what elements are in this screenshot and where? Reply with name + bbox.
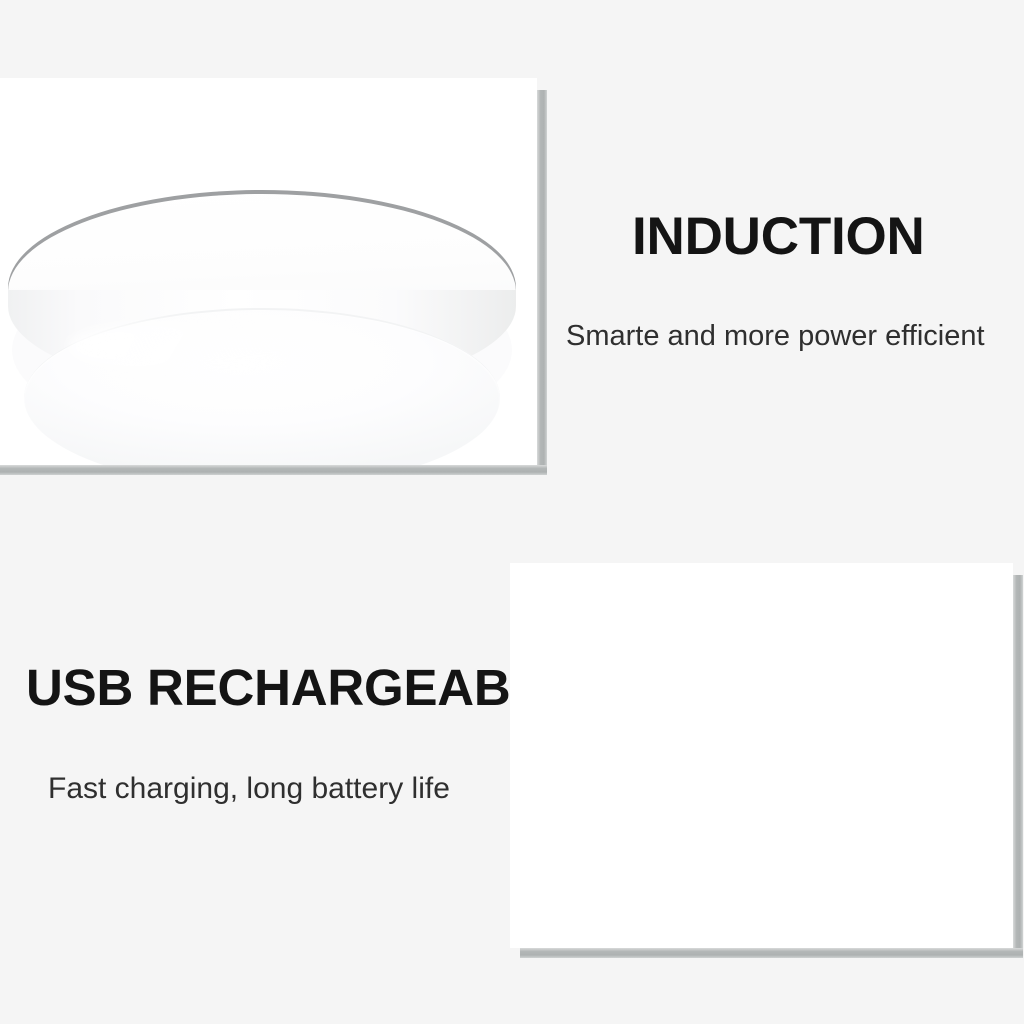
puck-highlight-gloss	[68, 320, 298, 374]
usb-photo-shadow-bottom	[520, 948, 1023, 958]
induction-photo-shadow-bottom	[0, 465, 547, 475]
usb-rechargeable-heading: USB RECHARGEABLE	[26, 662, 575, 713]
induction-subheading: Smarte and more power efficient	[566, 322, 985, 351]
induction-heading: INDUCTION	[632, 210, 925, 263]
induction-photo-panel	[0, 78, 537, 465]
usb-photo-panel	[510, 563, 1013, 948]
induction-photo-shadow-right	[537, 90, 547, 475]
puck-light-top-view-photo	[8, 190, 516, 465]
marketing-image-canvas: INDUCTION Smarte and more power efficien…	[0, 0, 1024, 1024]
usb-photo-shadow-right	[1013, 575, 1023, 958]
usb-rechargeable-subheading: Fast charging, long battery life	[48, 774, 450, 804]
